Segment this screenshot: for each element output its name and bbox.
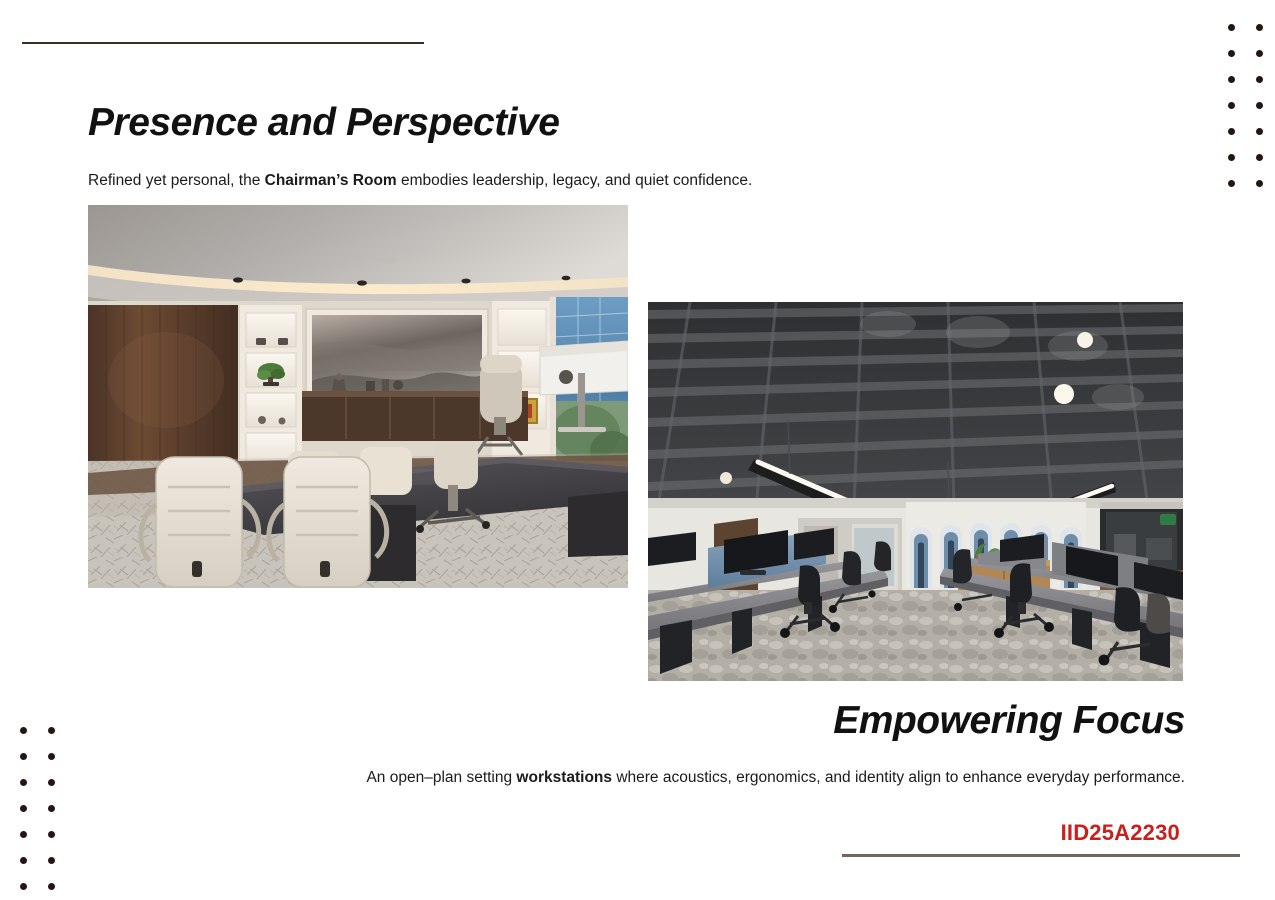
page-title-presence: Presence and Perspective bbox=[88, 102, 848, 145]
caption-empowering: An open–plan setting workstations where … bbox=[300, 768, 1185, 789]
dot-icon bbox=[20, 727, 27, 734]
section-presence: Presence and Perspective Refined yet per… bbox=[88, 102, 848, 192]
dot-marker bbox=[1228, 144, 1256, 170]
dot-marker bbox=[20, 847, 48, 873]
dot-grid-bottom-left bbox=[20, 717, 76, 899]
photo-boardroom: 福 bbox=[88, 205, 628, 588]
dot-marker bbox=[20, 743, 48, 769]
section-empowering: Empowering Focus An open–plan setting wo… bbox=[300, 700, 1185, 789]
dot-marker bbox=[1228, 92, 1256, 118]
dot-icon bbox=[48, 831, 55, 838]
dot-marker bbox=[48, 847, 76, 873]
dot-marker bbox=[48, 873, 76, 899]
dot-icon bbox=[1228, 76, 1235, 83]
dot-marker bbox=[1256, 144, 1275, 170]
dot-icon bbox=[1228, 180, 1235, 187]
dot-marker bbox=[48, 821, 76, 847]
dot-icon bbox=[20, 753, 27, 760]
dot-icon bbox=[20, 883, 27, 890]
dot-icon bbox=[1256, 50, 1263, 57]
dot-marker bbox=[20, 821, 48, 847]
dot-icon bbox=[1256, 102, 1263, 109]
dot-icon bbox=[1228, 128, 1235, 135]
dot-icon bbox=[1256, 24, 1263, 31]
dot-icon bbox=[1228, 102, 1235, 109]
dot-marker bbox=[1256, 66, 1275, 92]
dot-marker bbox=[1256, 40, 1275, 66]
photo-open-plan-office bbox=[648, 302, 1183, 681]
dot-marker bbox=[20, 873, 48, 899]
dot-icon bbox=[1256, 154, 1263, 161]
dot-icon bbox=[48, 727, 55, 734]
bottom-accent-rule bbox=[842, 854, 1240, 857]
dot-marker bbox=[48, 769, 76, 795]
dot-marker bbox=[1256, 92, 1275, 118]
dot-icon bbox=[1228, 50, 1235, 57]
dot-icon bbox=[20, 857, 27, 864]
dot-marker bbox=[1228, 14, 1256, 40]
dot-icon bbox=[48, 753, 55, 760]
dot-icon bbox=[1256, 180, 1263, 187]
dot-marker bbox=[1228, 170, 1256, 196]
dot-icon bbox=[1228, 154, 1235, 161]
caption-empowering-bold: workstations bbox=[516, 769, 612, 786]
dot-marker bbox=[20, 717, 48, 743]
dot-marker bbox=[48, 795, 76, 821]
dot-icon bbox=[20, 779, 27, 786]
top-accent-rule bbox=[22, 42, 424, 44]
page-title-empowering: Empowering Focus bbox=[300, 700, 1185, 743]
dot-marker bbox=[1228, 66, 1256, 92]
dot-grid-top-right bbox=[1228, 14, 1275, 196]
caption-empowering-before: An open–plan setting bbox=[366, 769, 516, 786]
project-code: IID25A2230 bbox=[840, 820, 1180, 846]
dot-marker bbox=[20, 795, 48, 821]
dot-marker bbox=[1256, 14, 1275, 40]
dot-icon bbox=[1256, 128, 1263, 135]
dot-icon bbox=[48, 857, 55, 864]
dot-icon bbox=[1256, 76, 1263, 83]
caption-presence-bold: Chairman’s Room bbox=[265, 172, 397, 189]
dot-marker bbox=[48, 743, 76, 769]
dot-marker bbox=[1256, 170, 1275, 196]
caption-presence-before: Refined yet personal, the bbox=[88, 172, 265, 189]
caption-presence-after: embodies leadership, legacy, and quiet c… bbox=[397, 172, 753, 189]
dot-marker bbox=[48, 717, 76, 743]
dot-marker bbox=[1228, 118, 1256, 144]
caption-empowering-after: where acoustics, ergonomics, and identit… bbox=[612, 769, 1185, 786]
dot-icon bbox=[48, 779, 55, 786]
dot-icon bbox=[20, 805, 27, 812]
dot-marker bbox=[1228, 40, 1256, 66]
dot-icon bbox=[20, 831, 27, 838]
dot-icon bbox=[48, 883, 55, 890]
caption-presence: Refined yet personal, the Chairman’s Roo… bbox=[88, 171, 848, 192]
dot-icon bbox=[48, 805, 55, 812]
dot-marker bbox=[20, 769, 48, 795]
dot-marker bbox=[1256, 118, 1275, 144]
dot-icon bbox=[1228, 24, 1235, 31]
